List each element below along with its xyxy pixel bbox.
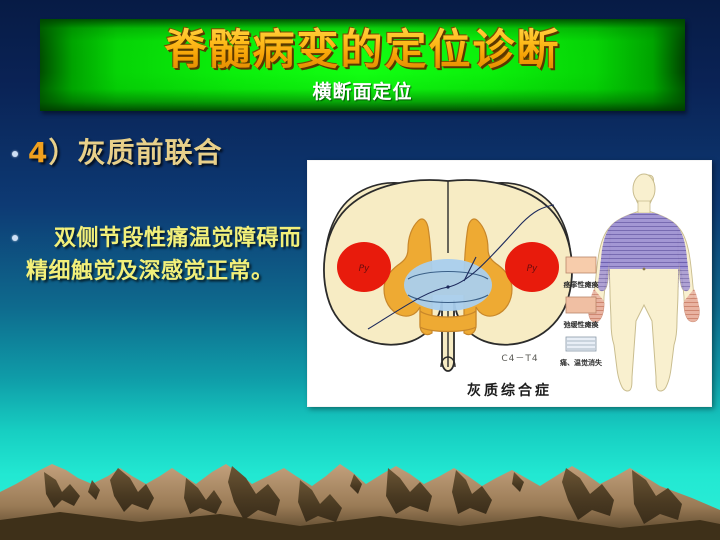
py-label-left: Py [359, 264, 370, 274]
legend-item-2: 痛、温觉消失 [560, 337, 603, 367]
bullet-heading-number: 4 [28, 136, 48, 169]
legend-label-0: 痉挛性瘫痪 [564, 280, 600, 289]
figure-panel: Py Py C4－T4 [307, 160, 712, 407]
bullet-dot-icon [12, 235, 18, 241]
figure-caption: 灰质综合症 [308, 380, 711, 400]
spinal-cord-diagram-graphic: Py Py C4－T4 [308, 161, 711, 406]
human-body-figure [589, 174, 700, 391]
bullet-heading-label: ）灰质前联合 [48, 136, 222, 169]
bullet-dot-icon [12, 151, 18, 157]
title-banner: 脊髓病变的定位诊断 横断面定位 [40, 19, 685, 111]
bullet-item-heading: 4）灰质前联合 [12, 134, 302, 172]
bullet-item-body: 双侧节段性痛温觉障碍而精细触觉及深感觉正常。 [12, 222, 304, 288]
bullet-heading-text: 4）灰质前联合 [28, 134, 223, 172]
legend-label-2: 痛、温觉消失 [560, 358, 603, 367]
slide-subtitle: 横断面定位 [40, 77, 685, 104]
cord-segment-label: C4－T4 [501, 354, 538, 364]
bullet-body-text: 双侧节段性痛温觉障碍而精细触觉及深感觉正常。 [26, 222, 304, 288]
legend-item-0: 痉挛性瘫痪 [564, 257, 600, 289]
py-label-right: Py [527, 264, 538, 274]
spinal-cord-cross-section: Py Py C4－T4 [324, 180, 572, 371]
presentation-slide: 脊髓病变的定位诊断 横断面定位 4）灰质前联合 双侧节段性痛温觉障碍而精细触觉及… [0, 0, 720, 540]
legend-item-1: 弛缓性瘫痪 [564, 297, 600, 329]
lesion-area [404, 259, 492, 311]
slide-title: 脊髓病变的定位诊断 [40, 24, 685, 76]
legend-label-1: 弛缓性瘫痪 [564, 320, 600, 329]
